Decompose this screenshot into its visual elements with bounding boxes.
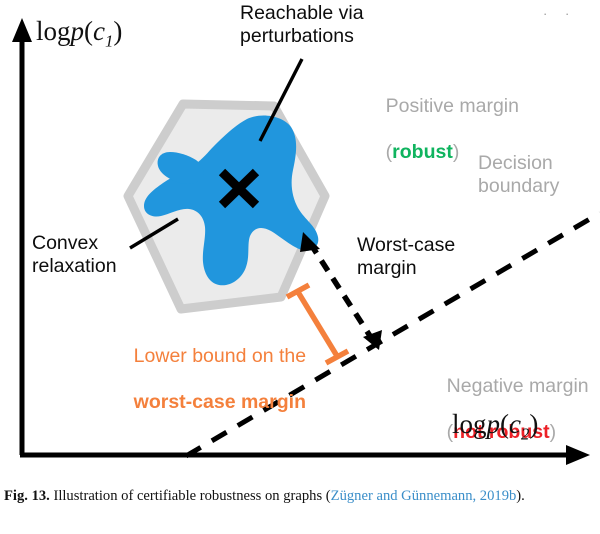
negative-margin-paren-close: ) <box>550 421 557 443</box>
figure-caption: Fig. 13. Illustration of certifiable rob… <box>4 487 596 506</box>
lower-bound-line-1: Lower bound on the <box>134 345 306 367</box>
figure-illustration: · · Reachable viaperturbations Convexrel… <box>0 0 600 478</box>
y-axis-paren-open: ( <box>84 16 93 46</box>
caption-figure-number: Fig. 13. <box>4 488 50 504</box>
y-axis-paren-close: ) <box>113 16 122 46</box>
x-axis-log-text: log <box>452 409 487 439</box>
corner-dots-artifact: · · <box>543 6 576 21</box>
lower-bound-label: Lower bound on the worst-case margin <box>112 322 306 437</box>
x-axis-label: logp(c2) <box>452 409 538 444</box>
positive-margin-text: Positive margin <box>386 95 519 117</box>
caption-text-after-citation: ). <box>516 488 525 504</box>
robust-status-text: robust <box>392 141 453 163</box>
positive-margin-paren-close: ) <box>453 141 460 163</box>
caption-text-before-citation: Illustration of certifiable robustness o… <box>50 488 331 504</box>
y-axis-arrowhead <box>12 18 32 42</box>
x-axis-p-text: p <box>487 409 501 439</box>
y-axis-p-text: p <box>71 16 85 46</box>
negative-margin-text: Negative margin <box>447 375 589 397</box>
y-axis-log-text: log <box>36 16 71 46</box>
caption-citation-link[interactable]: Zügner and Günnemann, 2019b <box>331 488 517 504</box>
reachable-via-perturbations-label: Reachable viaperturbations <box>240 2 364 48</box>
worst-case-margin-label: Worst-casemargin <box>357 234 455 280</box>
x-axis-paren-close: ) <box>529 409 538 439</box>
decision-boundary-label: Decisionboundary <box>478 152 559 198</box>
x-axis-paren-open: ( <box>500 409 509 439</box>
lower-bound-line-2: worst-case margin <box>134 391 306 413</box>
y-axis-var-text: c <box>93 16 105 46</box>
x-axis-var-text: c <box>509 409 521 439</box>
convex-relaxation-label: Convexrelaxation <box>32 232 117 278</box>
y-axis-label: logp(c1) <box>36 16 122 51</box>
